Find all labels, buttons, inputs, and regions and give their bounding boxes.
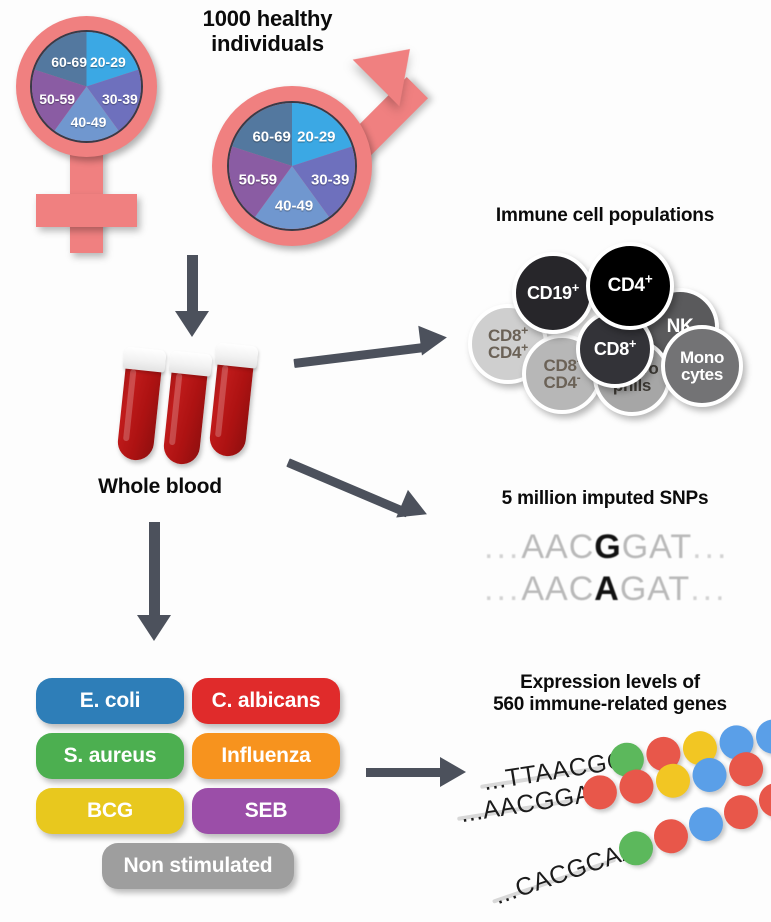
strand-bead (690, 756, 729, 795)
blood-tube-rim (215, 342, 259, 368)
arrow-head-icon (137, 615, 171, 641)
blood-tube (116, 347, 164, 462)
blood-tube-body (116, 361, 162, 462)
male-gender-symbol: 20-2930-3940-4950-5960-69 (212, 48, 427, 248)
blood-tube-rim (123, 346, 167, 372)
arrow-shaft (293, 343, 423, 368)
diagram-canvas: 1000 healthy individuals 20-2930-3940-49… (0, 0, 771, 922)
expression-title-line2: 560 immune-related genes (460, 694, 760, 716)
snp-after: GAT (620, 570, 690, 608)
chip-label: S. aureus (64, 744, 157, 768)
immune-cells-title: Immune cell populations (450, 205, 760, 227)
arrow-head-icon (418, 322, 448, 355)
blood-tube (208, 343, 256, 458)
immune-cell-label: Monocytes (680, 349, 724, 384)
strand-bead (649, 815, 692, 858)
expression-title-line1: Expression levels of (460, 672, 760, 694)
immune-cell-monocytes: Monocytes (661, 325, 743, 407)
stimulation-panel: E. coli C. albicans S. aureus Influenza … (36, 678, 346, 893)
strand-bead (754, 717, 771, 756)
stimulation-chip-c-albicans[interactable]: C. albicans (192, 678, 340, 724)
stimulation-chip-seb[interactable]: SEB (192, 788, 340, 834)
stimulation-chip-s-aureus[interactable]: S. aureus (36, 733, 184, 779)
stimulation-chip-bcg[interactable]: BCG (36, 788, 184, 834)
blood-tube (162, 351, 210, 466)
chip-label: C. albicans (212, 689, 321, 713)
arrow-shaft (149, 522, 160, 621)
snps-title: 5 million imputed SNPs (450, 488, 760, 510)
snp-prefix-dots: ... (484, 570, 521, 608)
pie-slice-label: 30-39 (311, 171, 349, 188)
strand-bead (617, 767, 656, 806)
blood-tube-body (162, 365, 208, 466)
immune-cell-cd4p: CD4+ (586, 242, 674, 330)
pie-slice-label: 40-49 (71, 114, 107, 130)
arrow-head-icon (175, 311, 209, 337)
strand-bead (684, 803, 727, 846)
chip-label: BCG (87, 799, 133, 823)
pie-slice-label: 50-59 (239, 171, 277, 188)
pie-slice-label: 50-59 (39, 91, 75, 107)
chip-label: E. coli (80, 689, 140, 713)
blood-tube-body (208, 357, 254, 458)
expression-strand-group: ...TTAACGG ...AACGGAT ...CACGCAA (460, 735, 771, 915)
female-age-pie-chart: 20-2930-3940-4950-5960-69 (30, 30, 143, 143)
immune-cell-label: CD19+ (527, 284, 579, 302)
strand-bead (719, 791, 762, 834)
chip-label: Non stimulated (124, 854, 273, 878)
male-age-pie-chart: 20-2930-3940-4950-5960-69 (227, 101, 357, 231)
chip-label: Influenza (221, 744, 310, 768)
pie-slice-label: 20-29 (90, 54, 126, 70)
snp-suffix-dots: ... (690, 570, 727, 608)
page-title-line1: 1000 healthy (160, 6, 375, 31)
pie-slice-label: 30-39 (102, 91, 138, 107)
stimulation-chip-e-coli[interactable]: E. coli (36, 678, 184, 724)
female-symbol-crossbar (36, 194, 137, 227)
snp-highlighted-base: A (594, 570, 620, 608)
strand-bead (654, 761, 693, 800)
snp-before: AAC (521, 528, 594, 566)
arrow-head-icon (396, 490, 433, 528)
snp-sequence-row: ...AACAGAT... (484, 570, 728, 609)
immune-cell-label: CD4+ (608, 276, 653, 295)
snp-suffix-dots: ... (692, 528, 729, 566)
immune-cell-label: CD8- CD4- (544, 357, 581, 392)
pie-slice-label: 20-29 (297, 129, 335, 146)
immune-cell-cd19p: CD19+ (512, 252, 594, 334)
whole-blood-label: Whole blood (50, 475, 270, 499)
snp-sequence-row: ...AACGGAT... (484, 528, 729, 567)
arrow-shaft (187, 255, 198, 317)
immune-cell-label: CD8+ (594, 340, 636, 358)
snp-highlighted-base: G (594, 528, 621, 566)
immune-cell-cluster: CD8+ CD4+ CD19+ CD4+ CD8+ NK (462, 240, 762, 415)
stimulation-chip-influenza[interactable]: Influenza (192, 733, 340, 779)
pie-slice-label: 40-49 (275, 198, 313, 215)
blood-tube-rim (169, 350, 213, 376)
pie-slice-label: 60-69 (51, 54, 87, 70)
arrow-shaft (286, 458, 409, 517)
female-gender-symbol: 20-2930-3940-4950-5960-69 (8, 8, 178, 258)
stimulation-chip-non-stimulated[interactable]: Non stimulated (102, 843, 294, 889)
immune-cell-label: CD8+ CD4+ (488, 327, 528, 362)
arrow-shaft (366, 768, 444, 777)
snp-before: AAC (521, 570, 594, 608)
pie-slice-label: 60-69 (252, 129, 290, 146)
snp-after: GAT (622, 528, 692, 566)
snp-prefix-dots: ... (484, 528, 521, 566)
expression-title: Expression levels of 560 immune-related … (460, 672, 760, 716)
chip-label: SEB (245, 799, 288, 823)
